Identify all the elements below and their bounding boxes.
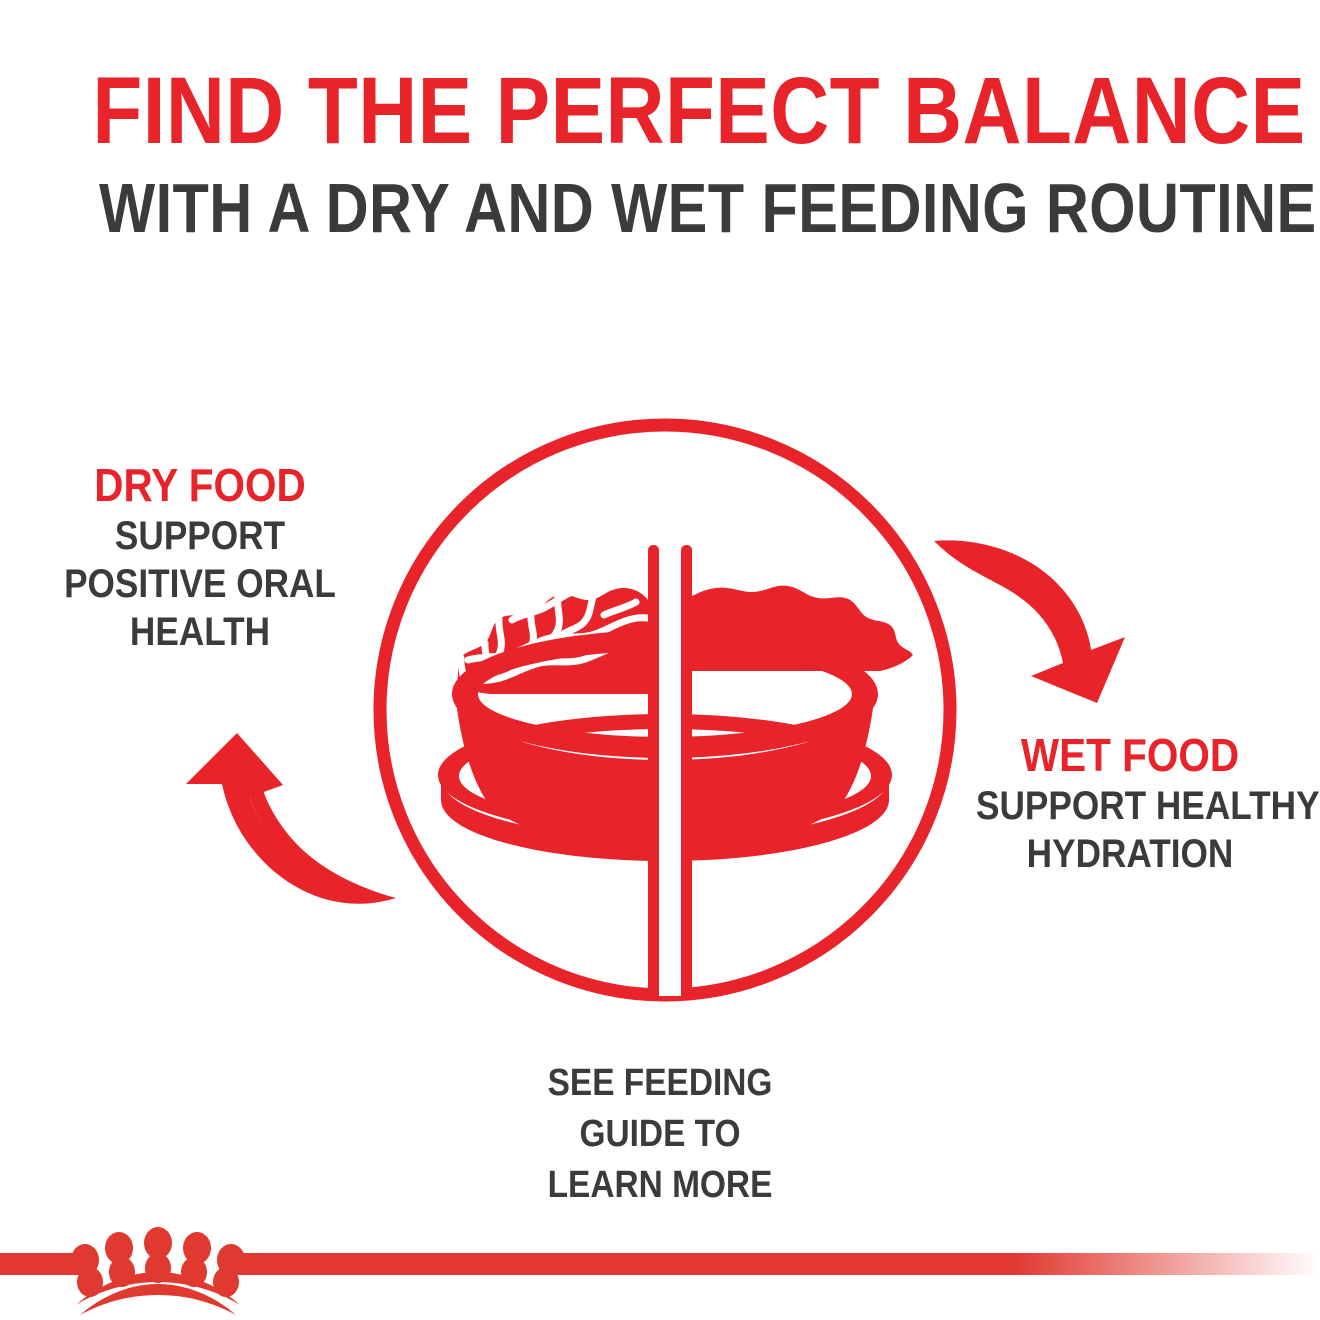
dry-food-line-2: POSITIVE ORAL — [50, 560, 349, 608]
feeding-guide-line-1: SEE FEEDING — [79, 1058, 1241, 1109]
bowl-base-band — [438, 714, 892, 836]
wet-food-title: WET FOOD — [976, 728, 1284, 782]
curved-arrow-down-right-icon — [934, 540, 1125, 703]
bowl-base-skirt — [441, 778, 889, 861]
bowl-body — [455, 691, 875, 847]
dry-food-line-1: SUPPORT — [50, 512, 349, 560]
dry-food-title: DRY FOOD — [50, 458, 349, 512]
dry-food-line-3: HEALTH — [50, 608, 349, 656]
divider-bar-left — [648, 545, 659, 996]
curved-arrow-up-left-icon — [186, 733, 396, 904]
footer-rule-right — [232, 1253, 1320, 1275]
divider-bar-right — [681, 545, 692, 996]
feeding-guide-line-2: GUIDE TO — [79, 1109, 1241, 1160]
feeding-guide-line-3: LEARN MORE — [79, 1160, 1241, 1211]
dry-kibble-mound — [448, 588, 648, 694]
poster-root: FIND THE PERFECT BALANCE WITH A DRY AND … — [0, 0, 1320, 1320]
feeding-guide-note: SEE FEEDING GUIDE TO LEARN MORE — [0, 1058, 1320, 1211]
bowl-rim — [452, 630, 878, 758]
header-block: FIND THE PERFECT BALANCE WITH A DRY AND … — [0, 62, 1320, 246]
circle-outline — [380, 425, 950, 995]
divider-gap — [659, 545, 681, 996]
wet-food-mound — [672, 586, 913, 671]
wet-food-callout: WET FOOD SUPPORT HEALTHY HYDRATION — [955, 728, 1305, 878]
page-subtitle: WITH A DRY AND WET FEEDING ROUTINE — [99, 170, 1221, 246]
wet-food-line-1: SUPPORT HEALTHY — [976, 782, 1284, 830]
dry-food-callout: DRY FOOD SUPPORT POSITIVE ORAL HEALTH — [30, 458, 370, 656]
royal-canin-crown-icon — [71, 1227, 245, 1315]
split-food-bowl-icon — [438, 545, 913, 996]
wet-food-line-2: HYDRATION — [976, 830, 1284, 878]
footer-brand-bar — [0, 1220, 1320, 1320]
page-title: FIND THE PERFECT BALANCE — [92, 62, 1227, 160]
